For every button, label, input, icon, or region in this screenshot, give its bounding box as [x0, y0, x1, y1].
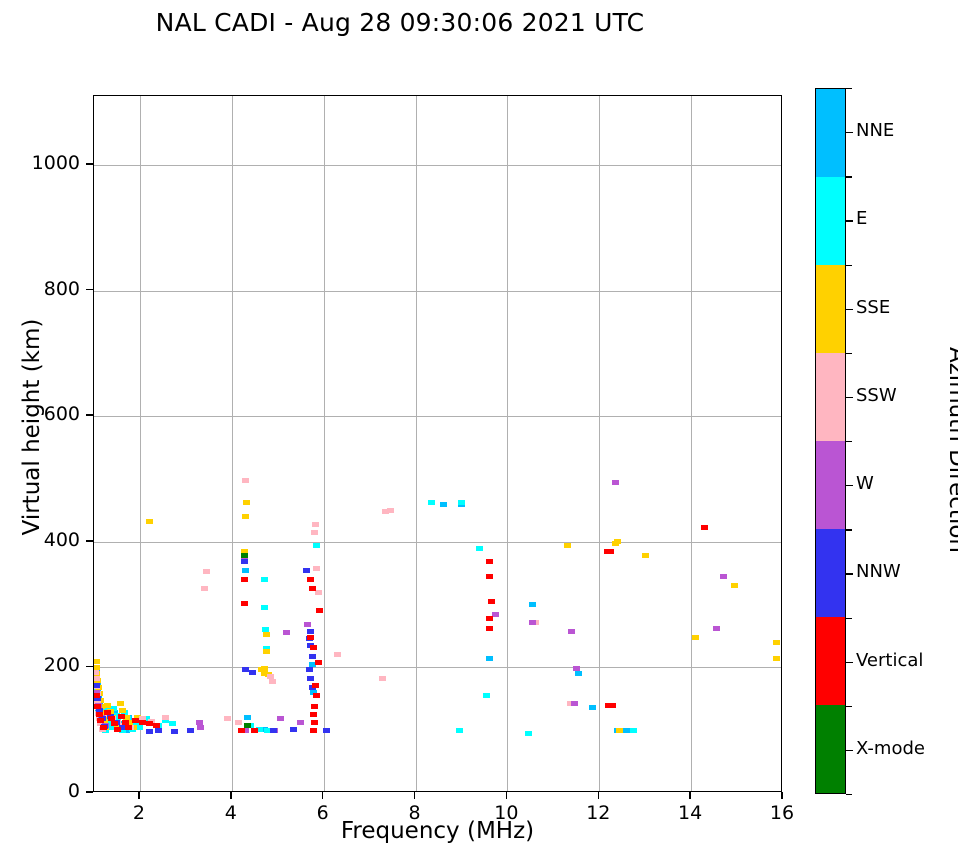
colorbar-band-sse	[816, 265, 845, 353]
data-mark-nnw	[249, 670, 256, 675]
data-mark-vertical	[100, 725, 107, 730]
gridline-horizontal	[94, 416, 781, 417]
data-mark-ssw	[224, 716, 231, 721]
data-mark-w	[492, 612, 499, 617]
ionogram-figure: NAL CADI - Aug 28 09:30:06 2021 UTC Virt…	[0, 0, 958, 857]
data-mark-sse	[642, 553, 649, 558]
colorbar-boundary-tick	[846, 176, 852, 177]
gridline-vertical	[507, 96, 508, 791]
data-mark-nnw	[307, 676, 314, 681]
y-tick-mark	[86, 540, 93, 542]
data-mark-sse	[263, 632, 270, 637]
data-mark-vertical	[701, 525, 708, 530]
colorbar-label-sse: SSE	[856, 297, 890, 318]
gridline-horizontal	[94, 165, 781, 166]
x-tick-mark	[138, 792, 140, 799]
data-mark-w	[529, 620, 536, 625]
y-tick-label: 400	[3, 529, 80, 551]
data-mark-e	[313, 543, 320, 548]
x-tick-label: 8	[385, 802, 445, 824]
data-mark-nnw	[187, 728, 194, 733]
colorbar-boundary-tick	[846, 265, 852, 266]
colorbar-label-e: E	[856, 208, 867, 229]
colorbar-label-nne: NNE	[856, 120, 894, 141]
colorbar-tick	[846, 662, 853, 663]
data-mark-sse	[612, 541, 619, 546]
x-tick-label: 2	[109, 802, 169, 824]
data-mark-ssw	[94, 670, 99, 675]
colorbar-band-nnw	[816, 529, 845, 617]
data-mark-ssw	[312, 522, 319, 527]
data-mark-vertical	[310, 712, 317, 717]
data-mark-nnw	[270, 728, 277, 733]
data-mark-vertical	[241, 601, 248, 606]
data-mark-vertical	[310, 645, 317, 650]
data-mark-vertical	[118, 714, 125, 719]
y-tick-label: 600	[3, 403, 80, 425]
data-mark-ssw	[334, 652, 341, 657]
data-mark-vertical	[311, 720, 318, 725]
data-mark-nnw	[309, 654, 316, 659]
data-mark-vertical	[313, 693, 320, 698]
colorbar-boundary-tick	[846, 794, 852, 795]
data-mark-nne	[244, 715, 251, 720]
colorbar-label-nnw: NNW	[856, 561, 901, 582]
colorbar-band-e	[816, 177, 845, 265]
y-tick-mark	[86, 163, 93, 165]
colorbar-tick	[846, 573, 853, 574]
data-mark-sse	[117, 701, 124, 706]
data-mark-vertical	[607, 549, 614, 554]
data-mark-sse	[263, 649, 270, 654]
gridline-vertical	[691, 96, 692, 791]
data-mark-w	[720, 574, 727, 579]
data-mark-w	[197, 725, 204, 730]
x-tick-label: 16	[752, 802, 812, 824]
colorbar-label-ssw: SSW	[856, 385, 897, 406]
data-mark-nnw	[171, 729, 178, 734]
data-mark-vertical	[486, 616, 493, 621]
data-mark-vertical	[251, 728, 258, 733]
data-mark-w	[568, 629, 575, 634]
data-mark-vertical	[238, 728, 245, 733]
data-mark-nne	[440, 502, 447, 507]
data-mark-vertical	[94, 704, 101, 709]
data-mark-nne	[575, 671, 582, 676]
x-tick-mark	[598, 792, 600, 799]
y-tick-mark	[86, 791, 93, 793]
colorbar-tick	[846, 750, 853, 751]
data-mark-vertical	[316, 608, 323, 613]
data-mark-vertical	[96, 712, 103, 717]
data-mark-vertical	[315, 660, 322, 665]
x-tick-mark	[230, 792, 232, 799]
x-tick-mark	[689, 792, 691, 799]
data-mark-e	[630, 728, 637, 733]
data-mark-sse	[564, 543, 571, 548]
data-mark-vertical	[104, 710, 111, 715]
colorbar-tick	[846, 485, 853, 486]
colorbar-boundary-tick	[846, 88, 852, 89]
data-mark-vertical	[312, 683, 319, 688]
data-mark-w	[283, 630, 290, 635]
data-mark-sse	[94, 659, 100, 664]
x-tick-mark	[414, 792, 416, 799]
gridline-vertical	[140, 96, 141, 791]
gridline-horizontal	[94, 291, 781, 292]
data-mark-e	[458, 500, 465, 505]
colorbar-boundary-tick	[846, 529, 852, 530]
data-mark-nne	[589, 705, 596, 710]
data-mark-ssw	[311, 530, 318, 535]
data-mark-nnw	[155, 728, 162, 733]
colorbar-label-w: W	[856, 473, 874, 494]
data-mark-sse	[773, 656, 780, 661]
data-mark-nnw	[241, 559, 248, 564]
data-mark-ssw	[235, 720, 242, 725]
data-mark-nnw	[146, 729, 153, 734]
data-mark-nnw	[303, 568, 310, 573]
data-mark-vertical	[609, 703, 616, 708]
x-tick-mark	[322, 792, 324, 799]
colorbar-tick	[846, 309, 853, 310]
y-tick-label: 0	[3, 780, 80, 802]
data-mark-w	[573, 666, 580, 671]
y-tick-label: 200	[3, 654, 80, 676]
data-mark-ssw	[242, 478, 249, 483]
data-mark-vertical	[309, 586, 316, 591]
gridline-vertical	[599, 96, 600, 791]
data-mark-nnw	[290, 727, 297, 732]
data-mark-w	[297, 720, 304, 725]
colorbar-title: Azimuth Direction	[944, 275, 958, 625]
data-mark-ssw	[162, 715, 169, 720]
data-mark-x-mode	[244, 723, 251, 728]
plot-canvas	[94, 96, 781, 791]
x-tick-mark	[506, 792, 508, 799]
data-mark-vertical	[486, 626, 493, 631]
data-mark-e	[525, 731, 532, 736]
data-mark-ssw	[387, 508, 394, 513]
colorbar-band-vertical	[816, 617, 845, 705]
data-mark-e	[169, 721, 176, 726]
data-mark-e	[456, 728, 463, 733]
data-mark-w	[612, 480, 619, 485]
data-mark-e	[261, 605, 268, 610]
gridline-horizontal	[94, 667, 781, 668]
data-mark-nnw	[323, 728, 330, 733]
x-tick-label: 6	[293, 802, 353, 824]
x-tick-label: 12	[568, 802, 628, 824]
colorbar-tick	[846, 132, 853, 133]
colorbar-label-vertical: Vertical	[856, 650, 923, 671]
data-mark-nne	[486, 656, 493, 661]
data-mark-vertical	[94, 693, 100, 698]
data-mark-w	[304, 622, 311, 627]
data-mark-vertical	[488, 599, 495, 604]
data-mark-vertical	[486, 559, 493, 564]
x-tick-mark	[781, 792, 783, 799]
data-mark-vertical	[114, 727, 121, 732]
gridline-vertical	[232, 96, 233, 791]
data-mark-sse	[242, 514, 249, 519]
data-mark-vertical	[153, 723, 160, 728]
data-mark-ssw	[201, 586, 208, 591]
colorbar-band-x-mode	[816, 705, 845, 793]
data-mark-vertical	[310, 728, 317, 733]
data-mark-vertical	[486, 574, 493, 579]
data-mark-vertical	[311, 704, 318, 709]
data-mark-e	[428, 500, 435, 505]
data-mark-ssw	[269, 679, 276, 684]
colorbar-tick	[846, 397, 853, 398]
data-mark-ssw	[315, 590, 322, 595]
data-mark-nnw	[94, 683, 100, 688]
data-mark-e	[483, 693, 490, 698]
data-mark-ssw	[313, 566, 320, 571]
data-mark-sse	[243, 500, 250, 505]
colorbar-band-nne	[816, 89, 845, 177]
data-mark-w	[571, 701, 578, 706]
y-tick-mark	[86, 666, 93, 668]
data-mark-vertical	[125, 725, 132, 730]
data-mark-sse	[119, 708, 126, 713]
data-mark-w	[277, 716, 284, 721]
data-mark-sse	[104, 703, 111, 708]
data-mark-e	[476, 546, 483, 551]
data-mark-sse	[692, 635, 699, 640]
x-tick-label: 14	[660, 802, 720, 824]
data-mark-nne	[529, 602, 536, 607]
data-mark-nnw	[307, 629, 314, 634]
x-tick-label: 4	[201, 802, 261, 824]
data-mark-ssw	[94, 676, 100, 681]
data-mark-e	[136, 725, 143, 730]
colorbar-band-w	[816, 441, 845, 529]
y-tick-mark	[86, 289, 93, 291]
data-mark-vertical	[241, 577, 248, 582]
gridline-vertical	[416, 96, 417, 791]
colorbar	[815, 88, 846, 794]
y-tick-label: 1000	[3, 152, 80, 174]
gridline-horizontal	[94, 542, 781, 543]
data-mark-e	[261, 577, 268, 582]
colorbar-boundary-tick	[846, 353, 852, 354]
data-mark-sse	[146, 519, 153, 524]
y-tick-label: 800	[3, 278, 80, 300]
data-mark-nne	[242, 568, 249, 573]
page-title: NAL CADI - Aug 28 09:30:06 2021 UTC	[0, 8, 800, 37]
data-mark-vertical	[307, 577, 314, 582]
plot-area	[93, 95, 782, 792]
data-mark-nnw	[306, 667, 313, 672]
colorbar-label-x-mode: X-mode	[856, 738, 925, 759]
data-mark-vertical	[307, 635, 314, 640]
colorbar-boundary-tick	[846, 441, 852, 442]
x-tick-label: 10	[476, 802, 536, 824]
gridline-vertical	[324, 96, 325, 791]
data-mark-w	[713, 626, 720, 631]
colorbar-boundary-tick	[846, 618, 852, 619]
colorbar-band-ssw	[816, 353, 845, 441]
data-mark-ssw	[203, 569, 210, 574]
y-tick-mark	[86, 414, 93, 416]
colorbar-boundary-tick	[846, 706, 852, 707]
data-mark-sse	[616, 728, 623, 733]
colorbar-tick	[846, 220, 853, 221]
data-mark-sse	[731, 583, 738, 588]
data-mark-sse	[773, 640, 780, 645]
data-mark-ssw	[379, 676, 386, 681]
data-mark-vertical	[97, 718, 104, 723]
data-mark-x-mode	[241, 553, 248, 558]
